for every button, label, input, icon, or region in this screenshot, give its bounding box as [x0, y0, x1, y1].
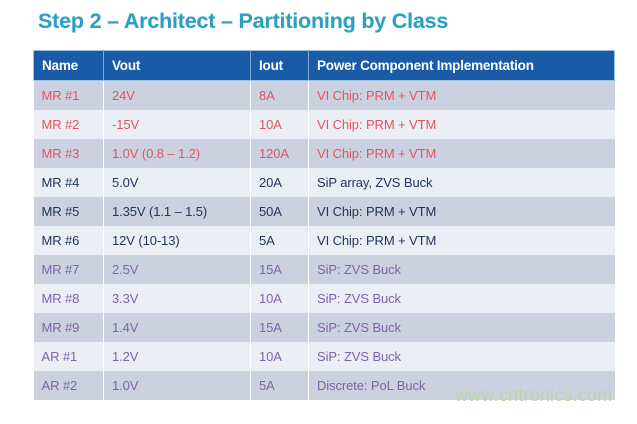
cell-name: MR #6 [34, 226, 104, 255]
table-header: Name Vout Iout Power Component Implement… [34, 51, 615, 81]
cell-name: MR #8 [34, 284, 104, 313]
table-row[interactable]: MR #91.4V15ASiP: ZVS Buck [34, 313, 615, 342]
cell-name: MR #7 [34, 255, 104, 284]
cell-vout: 2.5V [104, 255, 251, 284]
cell-name: MR #4 [34, 168, 104, 197]
cell-vout: -15V [104, 110, 251, 139]
table-row[interactable]: MR #612V (10-13)5AVI Chip: PRM + VTM [34, 226, 615, 255]
slide-canvas: Step 2 – Architect – Partitioning by Cla… [0, 0, 637, 424]
cell-impl: VI Chip: PRM + VTM [309, 81, 615, 111]
cell-impl: SiP: ZVS Buck [309, 284, 615, 313]
cell-iout: 15A [251, 255, 309, 284]
cell-vout: 5.0V [104, 168, 251, 197]
table-header-row: Name Vout Iout Power Component Implement… [34, 51, 615, 81]
table-row[interactable]: MR #31.0V (0.8 – 1.2)120AVI Chip: PRM + … [34, 139, 615, 168]
cell-iout: 50A [251, 197, 309, 226]
cell-impl: VI Chip: PRM + VTM [309, 139, 615, 168]
cell-impl: VI Chip: PRM + VTM [309, 110, 615, 139]
cell-impl: VI Chip: PRM + VTM [309, 197, 615, 226]
column-header-impl[interactable]: Power Component Implementation [309, 51, 615, 81]
cell-impl: VI Chip: PRM + VTM [309, 226, 615, 255]
table-row[interactable]: MR #2-15V10AVI Chip: PRM + VTM [34, 110, 615, 139]
cell-name: AR #2 [34, 371, 104, 400]
cell-name: MR #1 [34, 81, 104, 111]
table-row[interactable]: MR #45.0V20ASiP array, ZVS Buck [34, 168, 615, 197]
column-header-name[interactable]: Name [34, 51, 104, 81]
cell-iout: 8A [251, 81, 309, 111]
column-header-iout[interactable]: Iout [251, 51, 309, 81]
table-body: MR #124V8AVI Chip: PRM + VTMMR #2-15V10A… [34, 81, 615, 401]
cell-vout: 24V [104, 81, 251, 111]
cell-vout: 3.3V [104, 284, 251, 313]
cell-vout: 1.0V (0.8 – 1.2) [104, 139, 251, 168]
cell-name: MR #3 [34, 139, 104, 168]
cell-iout: 10A [251, 284, 309, 313]
cell-iout: 120A [251, 139, 309, 168]
cell-vout: 12V (10-13) [104, 226, 251, 255]
cell-name: MR #2 [34, 110, 104, 139]
partitioning-table-container: Name Vout Iout Power Component Implement… [33, 50, 614, 400]
column-header-vout[interactable]: Vout [104, 51, 251, 81]
cell-vout: 1.0V [104, 371, 251, 400]
cell-name: MR #9 [34, 313, 104, 342]
cell-impl: SiP: ZVS Buck [309, 313, 615, 342]
cell-name: MR #5 [34, 197, 104, 226]
cell-impl: Discrete: PoL Buck [309, 371, 615, 400]
cell-name: AR #1 [34, 342, 104, 371]
partitioning-table: Name Vout Iout Power Component Implement… [33, 50, 615, 400]
cell-impl: SiP: ZVS Buck [309, 342, 615, 371]
cell-iout: 10A [251, 110, 309, 139]
cell-iout: 5A [251, 226, 309, 255]
table-row[interactable]: MR #51.35V (1.1 – 1.5)50AVI Chip: PRM + … [34, 197, 615, 226]
cell-vout: 1.2V [104, 342, 251, 371]
page-title: Step 2 – Architect – Partitioning by Cla… [38, 9, 448, 34]
cell-vout: 1.35V (1.1 – 1.5) [104, 197, 251, 226]
cell-iout: 5A [251, 371, 309, 400]
cell-iout: 10A [251, 342, 309, 371]
cell-impl: SiP: ZVS Buck [309, 255, 615, 284]
table-row[interactable]: AR #11.2V10ASiP: ZVS Buck [34, 342, 615, 371]
cell-impl: SiP array, ZVS Buck [309, 168, 615, 197]
cell-vout: 1.4V [104, 313, 251, 342]
cell-iout: 15A [251, 313, 309, 342]
table-row[interactable]: MR #83.3V10ASiP: ZVS Buck [34, 284, 615, 313]
table-row[interactable]: AR #21.0V5ADiscrete: PoL Buck [34, 371, 615, 400]
table-row[interactable]: MR #124V8AVI Chip: PRM + VTM [34, 81, 615, 111]
table-row[interactable]: MR #72.5V15ASiP: ZVS Buck [34, 255, 615, 284]
cell-iout: 20A [251, 168, 309, 197]
